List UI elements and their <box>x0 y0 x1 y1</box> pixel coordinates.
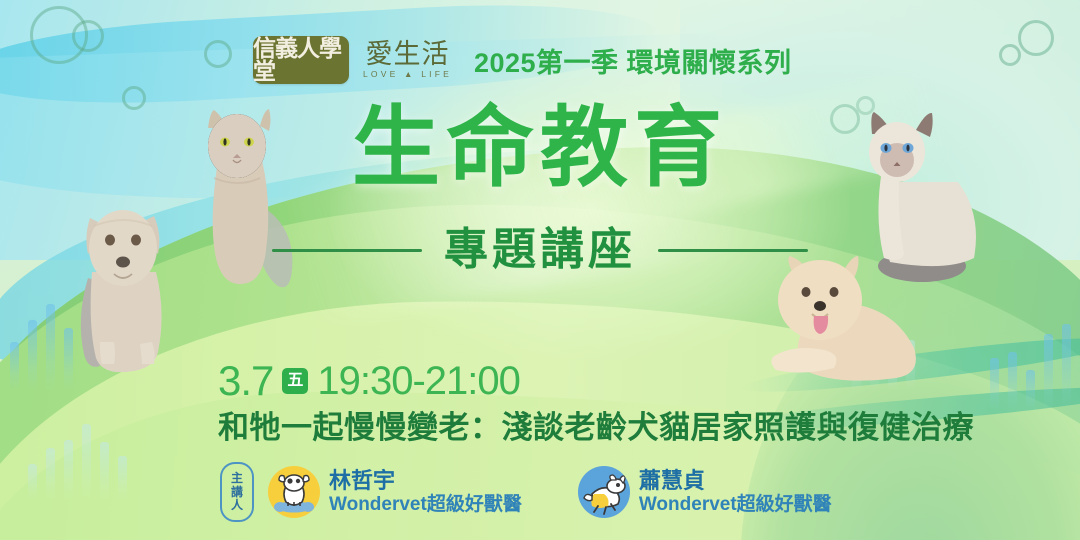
speaker-role-badge: 主 講 人 <box>220 462 254 522</box>
role-char-1: 主 <box>231 472 243 485</box>
love-life-cn: 愛生活 <box>365 41 449 68</box>
speaker-org: Wondervet超級好獸醫 <box>329 495 522 515</box>
speaker-name: 林哲宇 <box>329 469 522 492</box>
rule-right <box>658 249 808 252</box>
page-title: 生命教育 <box>0 104 1080 192</box>
speaker-item: 林哲宇 Wondervet超級好獸醫 <box>268 466 522 518</box>
xinyi-academy-logo: 信義人學堂 <box>253 36 349 84</box>
event-datetime: 3.7 五 19:30-21:00 <box>218 360 520 402</box>
weekday-badge: 五 <box>282 368 308 394</box>
speaker-info: 蕭慧貞 Wondervet超級好獸醫 <box>639 469 832 514</box>
page-subtitle: 專題講座 <box>444 228 636 272</box>
speaker-item: 蕭慧貞 Wondervet超級好獸醫 <box>578 466 832 518</box>
speaker-info: 林哲宇 Wondervet超級好獸醫 <box>329 469 522 514</box>
role-char-2: 講 <box>231 486 243 499</box>
role-char-3: 人 <box>231 499 243 512</box>
event-time: 19:30-21:00 <box>317 361 520 401</box>
speaker-org: Wondervet超級好獸醫 <box>639 495 832 515</box>
speaker-name: 蕭慧貞 <box>639 469 832 492</box>
speaker-list: 主 講 人 <box>220 462 832 522</box>
series-label: 2025第一季 環境關懷系列 <box>474 41 792 80</box>
poster-canvas: 信義人學堂 愛生活 LOVE ▲ LIFE 2025第一季 環境關懷系列 生命教… <box>0 0 1080 540</box>
subtitle-row: 專題講座 <box>0 228 1080 272</box>
event-topic: 和牠一起慢慢變老：淺談老齡犬貓居家照護與復健治療 <box>218 411 974 445</box>
love-life-en: LOVE ▲ LIFE <box>363 70 452 79</box>
dog-on-bone-icon <box>268 466 320 518</box>
logo-text: 信義人學堂 <box>253 37 349 83</box>
brand-header: 信義人學堂 愛生活 LOVE ▲ LIFE 2025第一季 環境關懷系列 <box>253 36 792 84</box>
rule-left <box>272 249 422 252</box>
love-life-logo: 愛生活 LOVE ▲ LIFE <box>363 41 452 79</box>
event-date: 3.7 <box>218 360 273 402</box>
running-dog-icon <box>578 466 630 518</box>
